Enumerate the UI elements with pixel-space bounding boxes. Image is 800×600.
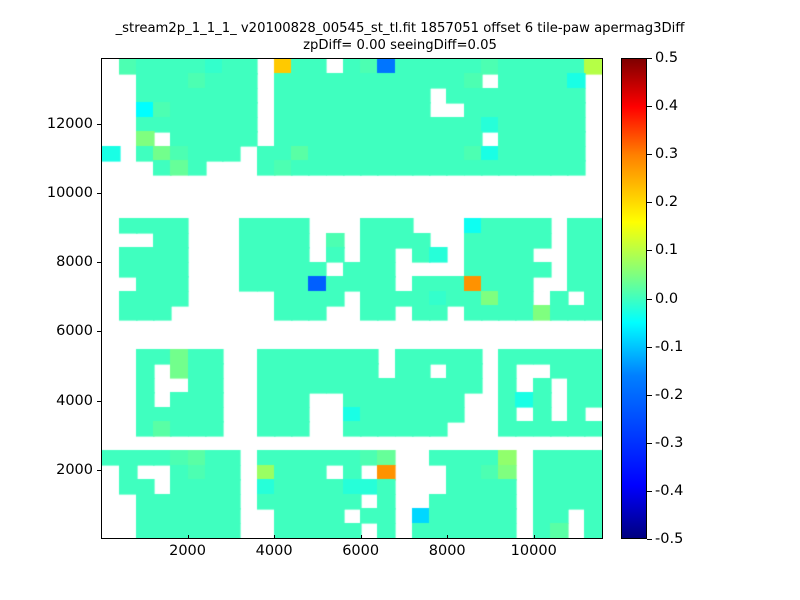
figure-title-line2: zpDiff= 0.00 seeingDiff=0.05	[0, 37, 800, 54]
y-tick-label: 10000	[47, 185, 93, 201]
colorbar-tick-label: -0.1	[655, 339, 683, 355]
colorbar-tick-label: 0.4	[655, 98, 678, 114]
colorbar-tick-label: 0.0	[655, 291, 678, 307]
figure-title-line1: _stream2p_1_1_1_ v20100828_00545_st_tl.f…	[0, 20, 800, 37]
colorbar-tick-label: -0.5	[655, 531, 683, 547]
colorbar-tick-mark	[647, 395, 652, 396]
y-tick-label: 2000	[56, 462, 93, 478]
x-tick-mark	[447, 535, 448, 539]
x-tick-label: 8000	[429, 543, 466, 559]
y-tick-label: 12000	[47, 116, 93, 132]
colorbar-tick-mark	[647, 58, 652, 59]
x-tick-mark	[188, 535, 189, 539]
colorbar-tick-label: 0.2	[655, 194, 678, 210]
colorbar-tick-mark	[647, 250, 652, 251]
colorbar-tick-mark	[647, 299, 652, 300]
colorbar-tick-label: 0.1	[655, 242, 678, 258]
x-tick-mark	[274, 535, 275, 539]
y-tick-mark	[97, 470, 101, 471]
colorbar-container	[621, 58, 647, 539]
colorbar-tick-mark	[647, 443, 652, 444]
colorbar-tick-label: 0.5	[655, 50, 678, 66]
colorbar-tick-label: 0.3	[655, 146, 678, 162]
y-tick-mark	[97, 262, 101, 263]
colorbar-tick-label: -0.4	[655, 483, 683, 499]
x-tick-label: 10000	[511, 543, 557, 559]
colorbar-gradient	[621, 58, 647, 539]
colorbar-tick-label: -0.3	[655, 435, 683, 451]
y-tick-mark	[97, 193, 101, 194]
y-tick-label: 4000	[56, 393, 93, 409]
y-tick-mark	[97, 401, 101, 402]
x-tick-mark	[534, 535, 535, 539]
matplotlib-figure: _stream2p_1_1_1_ v20100828_00545_st_tl.f…	[0, 0, 800, 600]
colorbar-tick-mark	[647, 539, 652, 540]
y-tick-label: 8000	[56, 254, 93, 270]
heatmap-axes	[101, 58, 603, 539]
colorbar-tick-mark	[647, 106, 652, 107]
colorbar-tick-label: -0.2	[655, 387, 683, 403]
x-tick-label: 6000	[342, 543, 379, 559]
x-tick-label: 2000	[169, 543, 206, 559]
y-tick-mark	[97, 124, 101, 125]
colorbar-tick-mark	[647, 347, 652, 348]
colorbar-tick-mark	[647, 202, 652, 203]
heatmap-image	[102, 59, 602, 538]
x-tick-mark	[361, 535, 362, 539]
colorbar-tick-mark	[647, 154, 652, 155]
colorbar-tick-mark	[647, 491, 652, 492]
y-tick-label: 6000	[56, 323, 93, 339]
x-tick-label: 4000	[256, 543, 293, 559]
y-tick-mark	[97, 331, 101, 332]
figure-title: _stream2p_1_1_1_ v20100828_00545_st_tl.f…	[0, 20, 800, 54]
